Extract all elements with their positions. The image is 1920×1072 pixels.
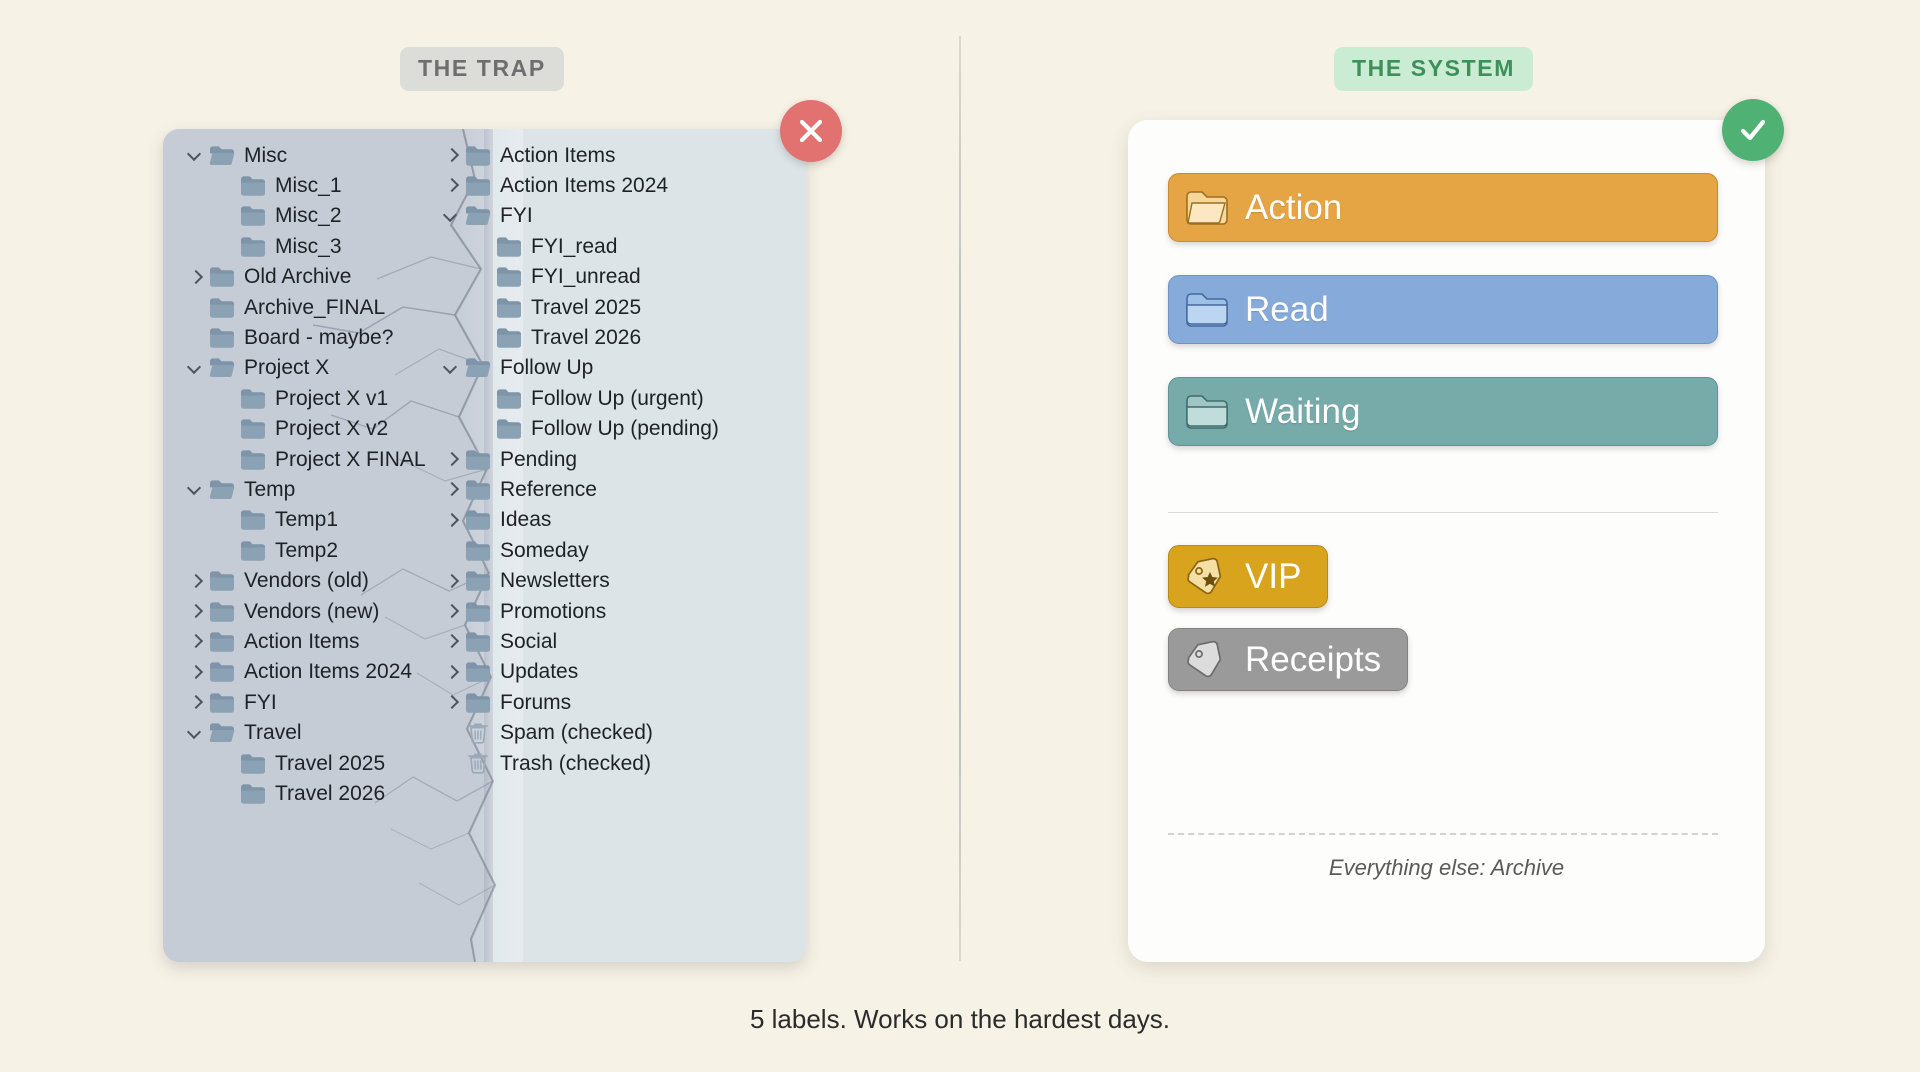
tag-star-icon <box>1185 557 1231 597</box>
folder-tree-row[interactable]: Pending <box>443 444 577 474</box>
folder-tree-label: Follow Up (urgent) <box>531 388 704 409</box>
folder-tree-label: Follow Up <box>500 357 593 378</box>
folder-tree-label: Spam (checked) <box>500 722 653 743</box>
folder-icon <box>465 631 491 652</box>
chevron-right-icon[interactable] <box>443 603 459 619</box>
folder-open-icon <box>465 205 491 226</box>
chevron-down-icon[interactable] <box>443 360 459 376</box>
folder-tree-row[interactable]: Travel 2025 <box>474 292 641 322</box>
folder-icon <box>496 327 522 348</box>
chevron-down-icon[interactable] <box>443 208 459 224</box>
trap-tree-column-right: Action ItemsAction Items 2024FYIFYI_read… <box>163 129 806 962</box>
folder-tree-row[interactable]: Someday <box>443 535 589 565</box>
folder-tree-row[interactable]: Social <box>443 626 557 656</box>
folder-tree-row[interactable]: Travel 2026 <box>474 322 641 352</box>
folder-tree-label: Travel 2026 <box>531 327 641 348</box>
chevron-right-icon[interactable] <box>443 664 459 680</box>
trash-icon <box>465 722 491 744</box>
folder-open-icon <box>1185 189 1229 227</box>
system-label-panel: Action Read Waiting VIP <box>1128 120 1765 962</box>
caption-text: 5 labels. Works on the hardest days. <box>0 1004 1920 1035</box>
folder-tree-row[interactable]: Promotions <box>443 596 606 626</box>
label-bar-text: Action <box>1245 190 1342 225</box>
label-bar-action[interactable]: Action <box>1168 173 1718 242</box>
folder-tree-row[interactable]: Follow Up <box>443 353 593 383</box>
slide-stage: THE TRAP THE SYSTEM M <box>0 0 1920 1072</box>
chevron-right-icon[interactable] <box>443 573 459 589</box>
folder-tree-label: Updates <box>500 661 578 682</box>
folder-tree-label: Trash (checked) <box>500 753 651 774</box>
label-bar-read[interactable]: Read <box>1168 275 1718 344</box>
folder-tree-label: Pending <box>500 449 577 470</box>
folder-icon <box>496 418 522 439</box>
folder-icon <box>465 692 491 713</box>
folder-tree-label: Reference <box>500 479 597 500</box>
folder-icon <box>465 449 491 470</box>
tag-chip-vip[interactable]: VIP <box>1168 545 1328 608</box>
folder-icon <box>465 601 491 622</box>
chevron-right-icon[interactable] <box>443 512 459 528</box>
folder-tree-row[interactable]: Follow Up (pending) <box>474 414 719 444</box>
folder-icon <box>496 266 522 287</box>
folder-tree-row[interactable]: Follow Up (urgent) <box>474 383 704 413</box>
chevron-right-icon[interactable] <box>443 694 459 710</box>
check-badge <box>1722 99 1784 161</box>
folder-tree-label: Someday <box>500 540 589 561</box>
folder-tree-label: FYI_read <box>531 236 617 257</box>
folder-tree-label: Action Items <box>500 145 616 166</box>
chevron-right-icon[interactable] <box>443 177 459 193</box>
folder-tree-row[interactable]: FYI <box>443 201 533 231</box>
folder-tree-row[interactable]: Newsletters <box>443 566 610 596</box>
chevron-right-icon[interactable] <box>443 451 459 467</box>
folder-tree-row[interactable]: Reference <box>443 474 597 504</box>
folder-tree-label: Forums <box>500 692 571 713</box>
chevron-right-icon[interactable] <box>443 633 459 649</box>
folder-icon <box>465 540 491 561</box>
folder-tree-row[interactable]: Action Items <box>443 140 616 170</box>
trap-folder-panel: MiscMisc_1Misc_2Misc_3Old ArchiveArchive… <box>163 129 806 962</box>
folder-icon <box>465 509 491 530</box>
folder-open-icon <box>465 357 491 378</box>
folder-tree-label: FYI <box>500 205 533 226</box>
archive-divider <box>1168 833 1718 835</box>
archive-footnote: Everything else: Archive <box>1128 855 1765 881</box>
folder-tree-label: Newsletters <box>500 570 610 591</box>
label-bar-text: Waiting <box>1245 394 1360 429</box>
folder-icon <box>465 175 491 196</box>
folder-tree-row[interactable]: Updates <box>443 657 578 687</box>
x-badge <box>780 100 842 162</box>
folder-icon <box>1185 393 1229 431</box>
folder-tree-label: Ideas <box>500 509 551 530</box>
label-bar-waiting[interactable]: Waiting <box>1168 377 1718 446</box>
chevron-right-icon[interactable] <box>443 147 459 163</box>
folder-icon <box>496 236 522 257</box>
folder-tree-row[interactable]: FYI_read <box>474 231 617 261</box>
label-bar-text: Read <box>1245 292 1329 327</box>
chevron-right-icon[interactable] <box>443 481 459 497</box>
folder-icon <box>496 388 522 409</box>
folder-icon <box>1185 291 1229 329</box>
folder-tree-row[interactable]: Forums <box>443 687 571 717</box>
folder-icon <box>465 145 491 166</box>
folder-icon <box>465 570 491 591</box>
tag-icon <box>1185 640 1231 680</box>
folder-icon <box>465 479 491 500</box>
folder-tree-row[interactable]: Action Items 2024 <box>443 170 668 200</box>
vertical-divider <box>959 36 961 961</box>
tag-chip-receipts[interactable]: Receipts <box>1168 628 1408 691</box>
close-icon <box>796 116 826 146</box>
folder-tree-label: Social <box>500 631 557 652</box>
folder-tree-label: Action Items 2024 <box>500 175 668 196</box>
folder-tree-row[interactable]: FYI_unread <box>474 262 641 292</box>
section-rule <box>1168 512 1718 513</box>
trash-icon <box>465 752 491 774</box>
tag-chip-text: Receipts <box>1245 642 1381 677</box>
folder-tree-label: Promotions <box>500 601 606 622</box>
folder-tree-label: Follow Up (pending) <box>531 418 719 439</box>
folder-tree-row[interactable]: Spam (checked) <box>443 718 653 748</box>
tag-chip-text: VIP <box>1245 559 1301 594</box>
folder-icon <box>496 297 522 318</box>
section-header-system: THE SYSTEM <box>1334 47 1533 91</box>
check-icon <box>1736 113 1770 147</box>
folder-tree-row[interactable]: Ideas <box>443 505 551 535</box>
folder-icon <box>465 661 491 682</box>
section-header-trap: THE TRAP <box>400 47 564 91</box>
folder-tree-label: FYI_unread <box>531 266 641 287</box>
folder-tree-row[interactable]: Trash (checked) <box>443 748 651 778</box>
folder-tree-label: Travel 2025 <box>531 297 641 318</box>
